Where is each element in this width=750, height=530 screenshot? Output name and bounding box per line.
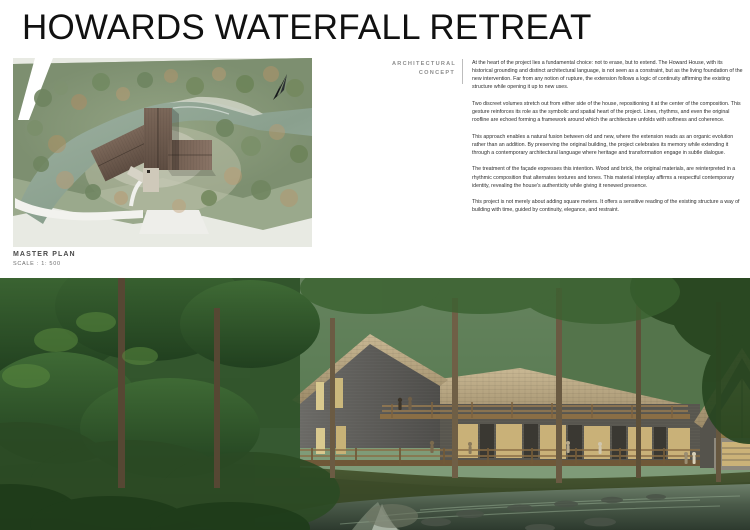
presentation-board: HOWARDS WATERFALL RETREAT xyxy=(0,0,750,530)
concept-paragraph: This approach enables a natural fusion b… xyxy=(472,133,744,157)
concept-label-line2: CONCEPT xyxy=(392,69,455,78)
concept-label: ARCHITECTURAL CONCEPT xyxy=(392,59,462,214)
master-plan-caption-scale: SCALE : 1: 500 xyxy=(13,260,76,268)
architectural-concept-section: ARCHITECTURAL CONCEPT At the heart of th… xyxy=(392,59,744,214)
master-plan-caption-title: MASTER PLAN xyxy=(13,250,76,259)
concept-paragraph: The treatment of the façade expresses th… xyxy=(472,165,744,189)
master-plan-drawing xyxy=(13,58,312,247)
master-plan-image xyxy=(13,58,312,247)
concept-divider xyxy=(462,59,463,84)
master-plan-caption: MASTER PLAN SCALE : 1: 500 xyxy=(13,250,76,268)
concept-body: At the heart of the project lies a funda… xyxy=(472,59,744,214)
concept-paragraph: Two discreet volumes stretch out from ei… xyxy=(472,100,744,124)
concept-label-line1: ARCHITECTURAL xyxy=(392,60,455,69)
exterior-render-illustration xyxy=(0,278,750,530)
page-title: HOWARDS WATERFALL RETREAT xyxy=(22,8,592,48)
concept-paragraph: At the heart of the project lies a funda… xyxy=(472,59,744,91)
concept-paragraph: This project is not merely about adding … xyxy=(472,198,744,214)
exterior-render-image xyxy=(0,278,750,530)
